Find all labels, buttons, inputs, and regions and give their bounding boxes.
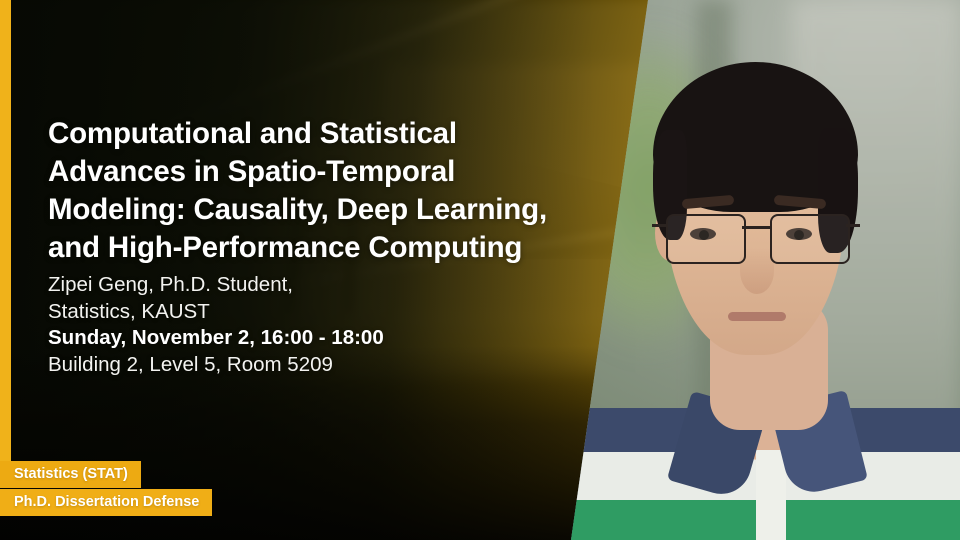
badge-department: Statistics (STAT) [0, 461, 141, 488]
event-title: Computational and Statistical Advances i… [48, 115, 593, 267]
eyeglass-temple-left [652, 224, 666, 227]
eyeglass-lens-right [770, 214, 850, 264]
eyeglass-temple-right [846, 224, 860, 227]
event-announcement-slide: Computational and Statistical Advances i… [0, 0, 960, 540]
speaker-affiliation: Statistics, KAUST [48, 299, 568, 326]
left-accent-bar [0, 0, 11, 461]
eyeglass-bridge [742, 226, 770, 229]
event-location: Building 2, Level 5, Room 5209 [48, 352, 568, 379]
eyeglass-lens-left [666, 214, 746, 264]
badge-event-type: Ph.D. Dissertation Defense [0, 489, 212, 516]
portrait-shirt-placket [756, 450, 786, 540]
event-badges: Statistics (STAT) Ph.D. Dissertation Def… [0, 461, 212, 517]
eyeglasses-icon [664, 214, 850, 266]
portrait-mouth [728, 312, 786, 321]
event-details: Zipei Geng, Ph.D. Student, Statistics, K… [48, 272, 568, 378]
event-datetime: Sunday, November 2, 16:00 - 18:00 [48, 325, 568, 352]
speaker-name: Zipei Geng, Ph.D. Student, [48, 272, 568, 299]
event-text-column: Computational and Statistical Advances i… [48, 0, 608, 540]
